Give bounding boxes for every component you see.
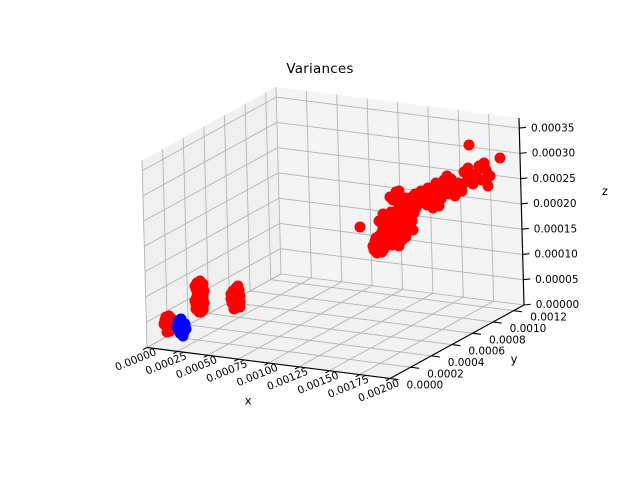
data-point-red xyxy=(483,181,494,192)
y-tick-label: 0.0002 xyxy=(427,368,464,380)
z-tick xyxy=(523,254,530,255)
data-point-blue xyxy=(176,314,187,325)
z-axis-label: z xyxy=(602,184,608,198)
data-point-red xyxy=(446,174,457,185)
y-tick xyxy=(452,345,461,346)
z-tick xyxy=(521,203,528,204)
y-axis-label: y xyxy=(511,352,518,366)
data-point-red xyxy=(355,222,366,233)
y-tick-label: 0.0004 xyxy=(448,357,485,369)
z-tick-label: 0.00035 xyxy=(531,122,574,134)
data-point-red xyxy=(376,230,387,241)
data-point-red xyxy=(385,192,396,203)
y-tick-label: 0.0012 xyxy=(530,312,567,324)
data-point-red xyxy=(464,140,475,151)
z-tick-label: 0.00030 xyxy=(532,148,575,160)
z-tick-label: 0.00000 xyxy=(536,299,579,311)
figure-canvas: Variances 0.000000.000250.000500.000750.… xyxy=(0,0,640,480)
x-axis-label: x xyxy=(245,393,252,407)
y-tick-label: 0.0000 xyxy=(407,380,444,392)
y-tick xyxy=(431,356,440,357)
z-tick-label: 0.00015 xyxy=(534,223,577,235)
data-point-red xyxy=(234,285,245,296)
data-point-red xyxy=(485,171,496,182)
y-tick-label: 0.0006 xyxy=(468,346,505,358)
z-tick-label: 0.00005 xyxy=(535,274,578,286)
data-point-blue xyxy=(178,331,189,342)
data-point-red xyxy=(394,186,405,197)
data-point-red xyxy=(403,196,414,207)
z-tick xyxy=(521,178,528,179)
data-point-red xyxy=(495,153,506,164)
z-tick xyxy=(523,279,530,280)
z-tick xyxy=(520,153,527,154)
data-point-red xyxy=(235,302,246,313)
axes-3d: 0.000000.000250.000500.000750.001000.001… xyxy=(0,0,640,480)
y-tick xyxy=(493,322,502,323)
data-point-red xyxy=(479,158,490,169)
y-tick xyxy=(411,367,420,368)
y-tick-label: 0.0010 xyxy=(510,323,547,335)
z-tick-label: 0.00025 xyxy=(532,173,575,185)
y-tick-label: 0.0008 xyxy=(489,334,526,346)
y-tick xyxy=(514,311,523,312)
y-tick xyxy=(472,333,481,334)
z-tick-label: 0.00010 xyxy=(534,249,577,261)
data-point-red xyxy=(194,302,205,313)
data-point-red xyxy=(436,194,447,205)
z-tick xyxy=(522,228,529,229)
z-tick xyxy=(519,127,526,128)
data-point-red xyxy=(162,327,173,338)
data-point-red xyxy=(226,294,237,305)
z-tick xyxy=(524,304,531,305)
data-point-red xyxy=(417,197,428,208)
z-tick-label: 0.00020 xyxy=(533,198,576,210)
